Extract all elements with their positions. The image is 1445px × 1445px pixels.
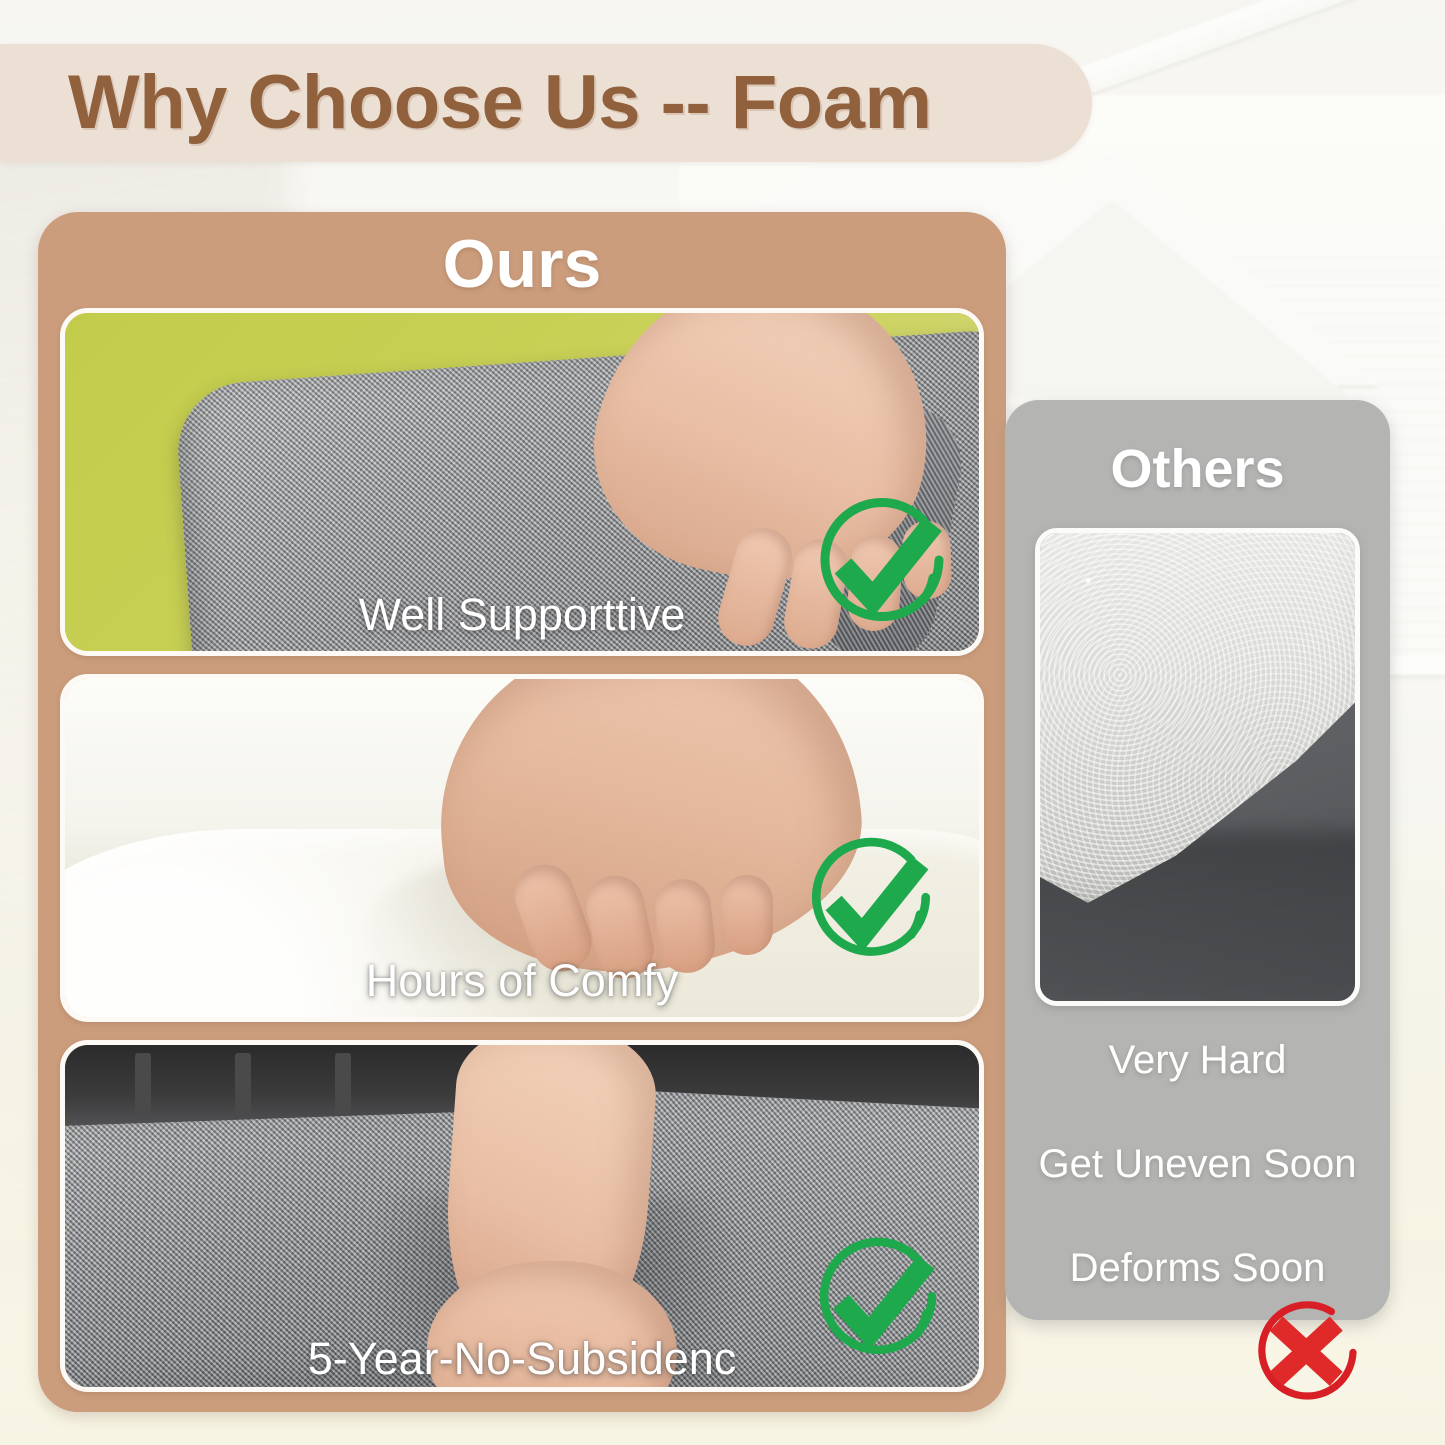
slat-1 [135, 1053, 151, 1115]
ours-panel: Ours Well Supporttive [38, 212, 1006, 1412]
others-panel: Others Very Hard Get Uneven Soon Deforms… [1005, 400, 1390, 1320]
slat-3 [335, 1053, 351, 1115]
ours-item-photo-3: 5-Year-No-Subsidenc [60, 1040, 984, 1392]
photo-art-memory-foam [65, 679, 979, 1017]
page-title: Why Choose Us -- Foam [68, 65, 932, 141]
others-item-3: Deforms Soon [1005, 1248, 1390, 1288]
finger-4 [721, 875, 773, 955]
others-item-1: Very Hard [1005, 1040, 1390, 1080]
others-drawback-list: Very Hard Get Uneven Soon Deforms Soon [1005, 1040, 1390, 1288]
others-item-2: Get Uneven Soon [1005, 1144, 1390, 1184]
others-photo [1035, 528, 1360, 1006]
finger-3 [846, 533, 905, 632]
ours-panel-title: Ours [38, 230, 1006, 298]
photo-art-supportive-cushion [65, 313, 979, 651]
photo-art-cheap-foam [1040, 533, 1355, 1001]
finger-4 [902, 520, 953, 600]
slat-2 [235, 1053, 251, 1115]
photo-art-no-subsidence [65, 1045, 979, 1387]
others-panel-title: Others [1005, 442, 1390, 496]
header-banner: Why Choose Us -- Foam [0, 44, 1092, 162]
infographic-canvas: Why Choose Us -- Foam Ours [0, 0, 1445, 1445]
ours-item-photo-1: Well Supporttive [60, 308, 984, 656]
ours-item-photo-2: Hours of Comfy [60, 674, 984, 1022]
